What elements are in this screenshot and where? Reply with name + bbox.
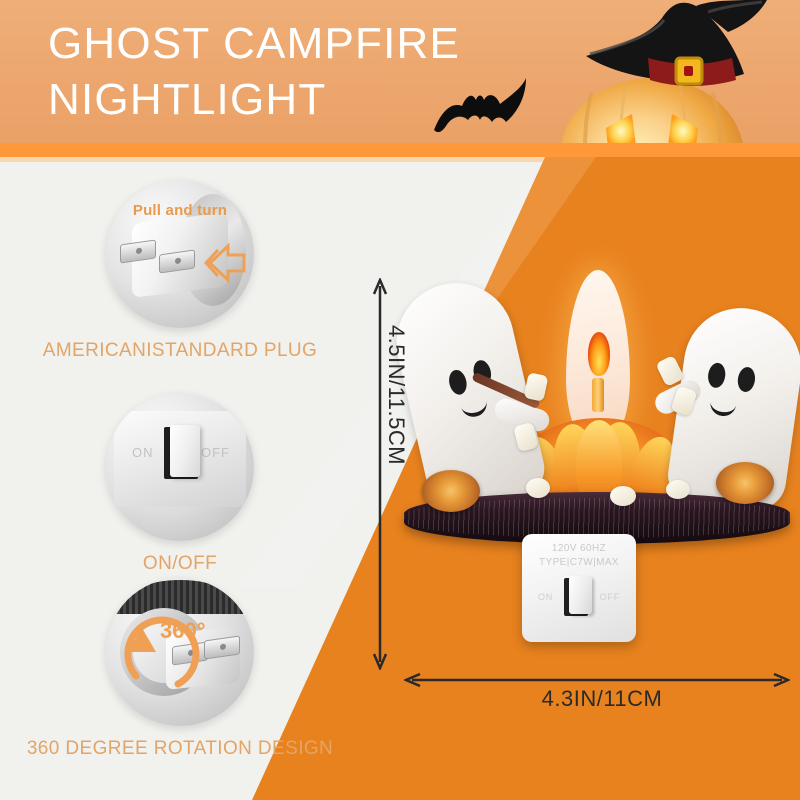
bulb-filament: [588, 332, 610, 376]
rotation-degrees-label: 360°: [160, 618, 206, 644]
product-infographic: GHOST CAMPFIRE NIGHTLIGHT: [0, 0, 800, 800]
plug-prongs-icon: Pull and turn: [106, 180, 254, 328]
title-line-1: GHOST CAMPFIRE: [48, 19, 460, 68]
feature-american-standard-plug[interactable]: Pull and turn AMERICANISTANDARD PLUG: [0, 180, 360, 362]
plug-switch-on-label: ON: [538, 592, 553, 602]
marshmallow: [526, 478, 550, 498]
header-rule: [0, 143, 800, 157]
feature-on-off[interactable]: ON OFF ON/OFF: [0, 393, 360, 575]
marshmallow: [610, 486, 636, 506]
plug-spec-line-2: TYPE|C7W|MAX: [522, 557, 636, 568]
switch-off-label: OFF: [201, 445, 230, 460]
feature-label: ON/OFF: [0, 553, 360, 575]
log-left: [422, 470, 480, 512]
product-image: 120V 60HZ TYPE|C7W|MAX ON OFF: [398, 262, 798, 662]
height-dimension-label: 4.5IN/11.5CM: [383, 315, 409, 475]
pull-and-turn-callout: Pull and turn: [106, 202, 254, 219]
arrow-left-icon: [204, 242, 248, 284]
toggle-switch-icon: ON OFF: [106, 393, 254, 541]
bulb-base: [592, 378, 604, 412]
plug-switch-off-label: OFF: [600, 592, 620, 602]
feature-label: 360 DEGREE ROTATION DESIGN: [0, 738, 360, 760]
plug-switch-knob[interactable]: [569, 576, 592, 614]
feature-rotation[interactable]: 360° 360 DEGREE ROTATION DESIGN: [0, 578, 360, 760]
width-dimension-label: 4.3IN/11CM: [452, 686, 752, 712]
switch-on-label: ON: [132, 445, 154, 460]
log-right: [716, 462, 774, 504]
marshmallow: [666, 480, 690, 499]
rotation-icon: 360°: [106, 578, 254, 726]
switch-knob[interactable]: [170, 425, 200, 477]
plug-spec-line-1: 120V 60HZ: [522, 543, 636, 554]
marshmallow: [524, 372, 549, 402]
feature-label: AMERICANISTANDARD PLUG: [0, 340, 360, 362]
bat-icon: [432, 74, 528, 144]
plug-housing: 120V 60HZ TYPE|C7W|MAX ON OFF: [522, 534, 636, 642]
